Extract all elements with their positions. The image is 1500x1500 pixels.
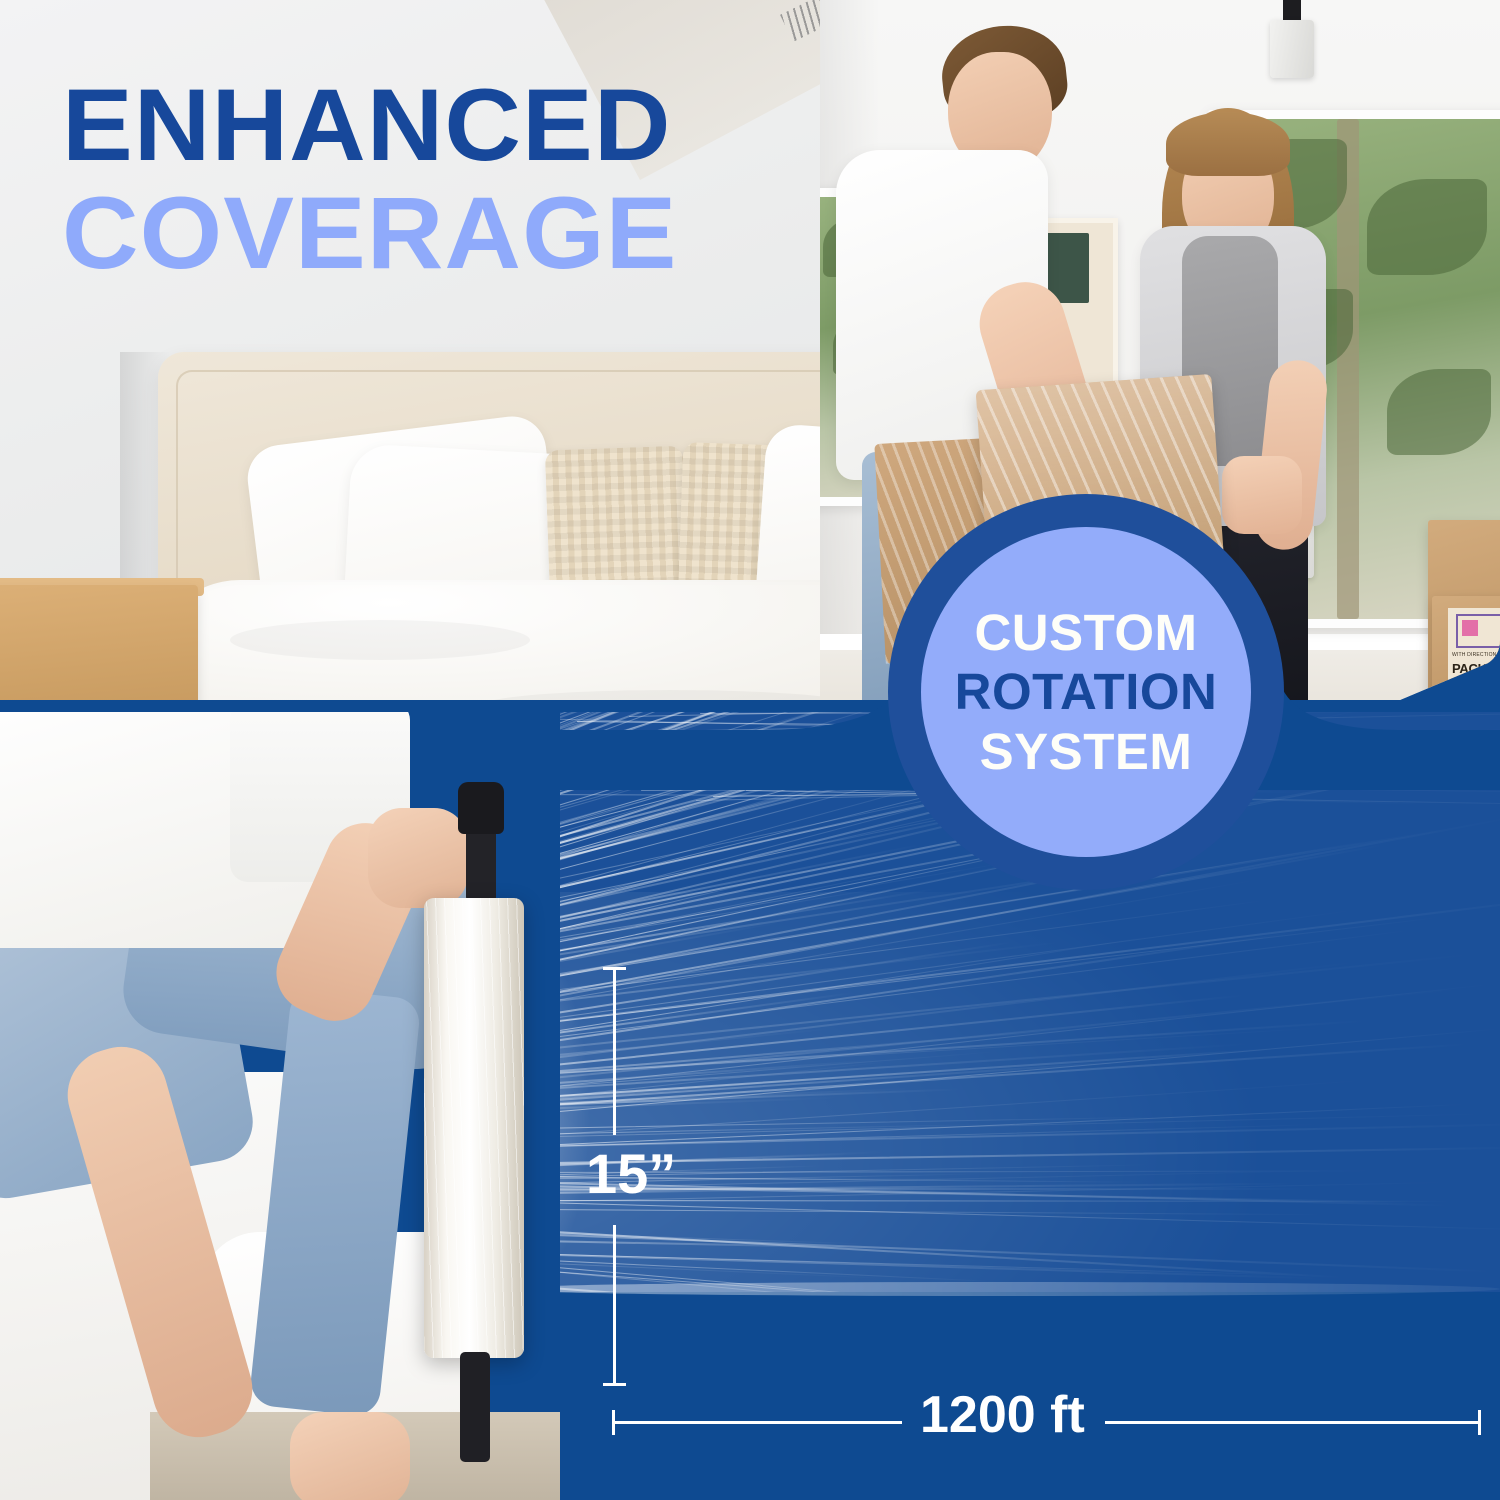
badge-line-3: SYSTEM: [980, 722, 1193, 782]
package-label-line2: MAXIMUM STR: [1452, 678, 1500, 692]
wrap-handle-shaft-bottom: [460, 1352, 490, 1462]
package-label-line1: PACKAGING: [1452, 662, 1500, 676]
headline-line-1: ENHANCED: [62, 76, 677, 176]
nightstand: [0, 585, 198, 715]
packaging-box-label: WITH DIRECTIONAL FLOW PACKAGING MAXIMUM …: [1448, 608, 1500, 710]
custom-rotation-system-badge: CUSTOM ROTATION SYSTEM: [888, 494, 1284, 890]
headline-line-2: COVERAGE: [62, 184, 677, 284]
headline: ENHANCED COVERAGE: [62, 76, 654, 284]
stretch-film-roll: [424, 898, 524, 1358]
product-marketing-image: WITH DIRECTIONAL FLOW PACKAGING MAXIMUM …: [0, 0, 1500, 1500]
badge-line-2: ROTATION: [955, 662, 1218, 722]
wrap-handle-shaft: [466, 824, 496, 902]
wrap-handle-knob: [458, 782, 504, 834]
bottom-left-photo: [0, 712, 560, 1500]
badge-line-1: CUSTOM: [974, 603, 1197, 663]
